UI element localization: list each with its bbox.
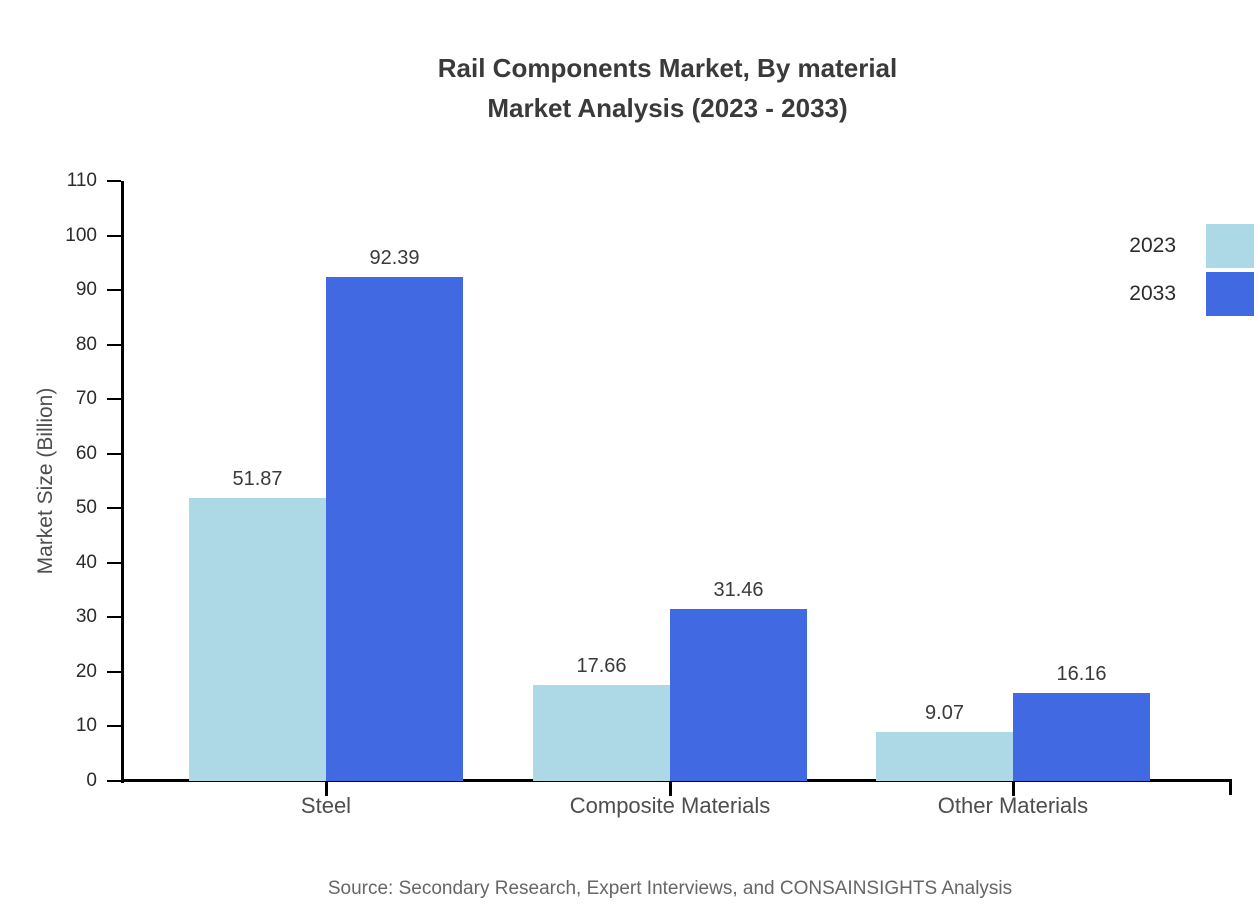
source-note: Source: Secondary Research, Expert Inter… <box>0 878 1260 900</box>
legend-item-2033[interactable]: 2033 <box>1120 270 1254 318</box>
bar-2033-steel[interactable] <box>326 277 463 781</box>
bar-value-label: 17.66 <box>576 655 626 678</box>
x-axis-category-label: Composite Materials <box>570 793 771 819</box>
x-axis-category-label: Steel <box>301 793 351 819</box>
bar-value-label: 31.46 <box>713 579 763 602</box>
chart-title-line-2: Market Analysis (2023 - 2033) <box>0 88 1260 128</box>
y-axis-tick <box>107 562 121 564</box>
y-axis-tick-label: 30 <box>76 606 97 628</box>
x-axis-end-cap <box>1229 779 1232 795</box>
y-axis-tick <box>107 780 121 782</box>
legend-swatch <box>1206 224 1254 268</box>
bar-value-label: 92.39 <box>369 247 419 270</box>
legend-swatch <box>1206 272 1254 316</box>
bar-2023-composite-materials[interactable] <box>533 685 670 781</box>
legend-label: 2023 <box>1120 234 1206 258</box>
x-axis-category-label: Other Materials <box>938 793 1088 819</box>
chart-title-line-1: Rail Components Market, By material <box>0 48 1260 88</box>
y-axis-tick <box>107 235 121 237</box>
bar-value-label: 9.07 <box>925 702 964 725</box>
y-axis-tick-label: 20 <box>76 661 97 683</box>
y-axis-tick-label: 60 <box>76 443 97 465</box>
page-title: Rail Components Market, By material Mark… <box>0 48 1260 128</box>
y-axis-tick <box>107 725 121 727</box>
bar-value-label: 16.16 <box>1056 663 1106 686</box>
bar-value-label: 51.87 <box>232 468 282 491</box>
bar-2023-steel[interactable] <box>189 498 326 781</box>
y-axis-tick-label: 80 <box>76 334 97 356</box>
y-axis-tick <box>107 180 121 182</box>
y-axis-tick-label: 90 <box>76 279 97 301</box>
y-axis-tick <box>107 289 121 291</box>
y-axis-tick <box>107 453 121 455</box>
y-axis-tick <box>107 398 121 400</box>
bar-2033-other-materials[interactable] <box>1013 693 1150 781</box>
y-axis-tick-label: 10 <box>76 715 97 737</box>
y-axis-title: Market Size (Billion) <box>34 181 58 781</box>
y-axis-tick-label: 40 <box>76 552 97 574</box>
plot-area: 51.8792.3917.6631.469.0716.16 <box>121 181 1232 781</box>
bar-2023-other-materials[interactable] <box>876 732 1013 781</box>
y-axis-tick-label: 110 <box>67 170 97 192</box>
legend-item-2023[interactable]: 2023 <box>1120 222 1254 270</box>
y-axis-tick <box>107 507 121 509</box>
y-axis-tick-label: 0 <box>86 770 97 792</box>
y-axis-tick-label: 70 <box>76 388 97 410</box>
y-axis-tick-label: 100 <box>65 225 97 247</box>
y-axis-tick <box>107 344 121 346</box>
y-axis-tick <box>107 671 121 673</box>
bar-2033-composite-materials[interactable] <box>670 609 807 781</box>
y-axis-tick-label: 50 <box>76 497 97 519</box>
y-axis-tick <box>107 616 121 618</box>
legend-label: 2033 <box>1120 282 1206 306</box>
chart-legend: 20232033 <box>1120 222 1254 318</box>
